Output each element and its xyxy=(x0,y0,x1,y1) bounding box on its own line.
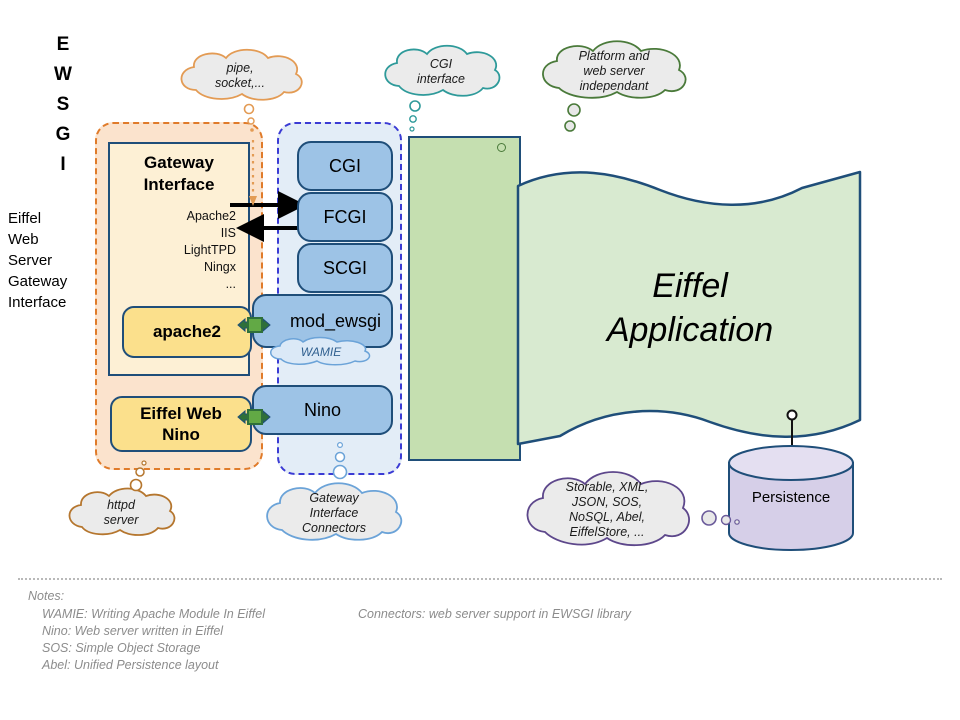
ewsgi-letter-g: G xyxy=(40,120,86,150)
notes-divider xyxy=(18,578,942,580)
cloud-platform-independant: Platform and web server independant xyxy=(533,40,695,102)
gateway-title-line1: Gateway xyxy=(110,152,248,174)
application-line1: Eiffel xyxy=(510,264,870,308)
connector-fcgi[interactable]: FCGI xyxy=(297,192,393,242)
eiffel-web-nino-box[interactable]: Eiffel Web Nino xyxy=(110,396,252,452)
note-line-connectors: Connectors: web server support in EWSGI … xyxy=(358,606,631,623)
eiffelweb-line1: Eiffel Web xyxy=(140,403,222,424)
gateway-title-line2: Interface xyxy=(110,174,248,196)
ewsgi-fullname-line3: Server xyxy=(8,250,112,271)
ewsgi-letter-s: S xyxy=(40,90,86,120)
plug-connector-icon-nino xyxy=(236,402,272,432)
plug-connector-icon-apache2 xyxy=(236,310,272,340)
ewsgi-letter-e: E xyxy=(40,30,86,60)
eiffel-application-label: Eiffel Application xyxy=(510,264,870,352)
ewsgi-fullname: Eiffel Web Server Gateway Interface xyxy=(8,208,112,313)
connector-scgi[interactable]: SCGI xyxy=(297,243,393,293)
cloud-cgi-interface: CGI interface xyxy=(377,44,505,100)
gateway-interface-title: Gateway Interface xyxy=(110,152,248,196)
note-line-nino: Nino: Web server written in Eiffel xyxy=(42,623,928,640)
persistence-label: Persistence xyxy=(727,489,855,506)
cloud-persistence-formats-tail-icon xyxy=(700,505,740,531)
apache2-server-box[interactable]: apache2 xyxy=(122,306,252,358)
ewsgi-letter-w: W xyxy=(40,60,86,90)
ewsgi-fullname-line2: Web xyxy=(8,229,112,250)
ewsgi-letter-i: I xyxy=(40,150,86,180)
connector-nino-label: Nino xyxy=(304,400,341,421)
cloud-pipe-socket: pipe, socket,... xyxy=(172,48,308,104)
connector-nino[interactable]: Nino xyxy=(252,385,393,435)
ewsgi-fullname-line1: Eiffel xyxy=(8,208,112,229)
ewsgi-panel xyxy=(408,136,521,461)
connector-cgi-label: CGI xyxy=(329,156,361,177)
notes-heading: Notes: xyxy=(28,588,928,605)
application-line2: Application xyxy=(510,308,870,352)
eiffel-application-flag: Eiffel Application xyxy=(510,168,870,458)
server-item-lighttpd: LightTPD xyxy=(116,242,236,259)
cloud-gateway-interface-connectors: Gateway Interface Connectors xyxy=(258,482,410,544)
ewsgi-acronym: E W S G I xyxy=(40,30,86,180)
pipe-dotted-arrow xyxy=(246,140,260,210)
cloud-httpd-server: httpd server xyxy=(62,487,180,539)
eiffelweb-line2: Nino xyxy=(140,424,222,445)
ewsgi-fullname-line5: Interface xyxy=(8,292,112,313)
ewsgi-fullname-line4: Gateway xyxy=(8,271,112,292)
note-line-sos: SOS: Simple Object Storage xyxy=(42,640,928,657)
server-item-ningx: Ningx xyxy=(116,259,236,276)
notes-body: WAMIE: Writing Apache Module In Eiffel N… xyxy=(28,606,928,674)
server-item-apache2: Apache2 xyxy=(116,208,236,225)
cloud-persistence-formats: Storable, XML, JSON, SOS, NoSQL, Abel, E… xyxy=(517,470,697,550)
connector-cgi[interactable]: CGI xyxy=(297,141,393,191)
cloud-connectors-tail-icon xyxy=(328,440,352,484)
gateway-server-list: Apache2 IIS LightTPD Ningx ... xyxy=(116,208,236,293)
connector-mod-ewsgi-label: mod_ewsgi xyxy=(290,311,381,332)
ewsgi-corner-handle-icon xyxy=(497,143,506,152)
apache2-label: apache2 xyxy=(153,322,221,342)
cloud-cgi-tail-icon xyxy=(404,100,426,136)
cloud-pipe-tail-icon xyxy=(238,104,260,142)
note-line-abel: Abel: Unified Persistence layout xyxy=(42,657,928,674)
persistence-database[interactable]: Persistence xyxy=(727,445,855,551)
connector-scgi-label: SCGI xyxy=(323,258,367,279)
connector-fcgi-label: FCGI xyxy=(324,207,367,228)
cloud-wamie: WAMIE xyxy=(265,338,377,366)
cloud-platform-tail-icon xyxy=(560,102,586,144)
notes-section: Notes: WAMIE: Writing Apache Module In E… xyxy=(28,588,928,674)
diagram-canvas: Gateway Interface Apache2 IIS LightTPD N… xyxy=(0,0,960,720)
server-item-iis: IIS xyxy=(116,225,236,242)
server-item-ellipsis: ... xyxy=(116,276,236,293)
cloud-httpd-tail-icon xyxy=(130,458,154,494)
